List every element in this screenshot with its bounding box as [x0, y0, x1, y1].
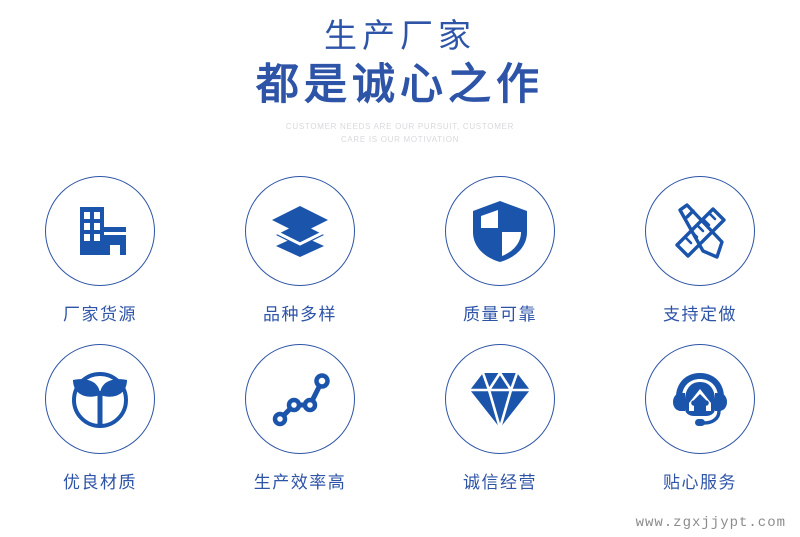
- icon-ring: [645, 176, 755, 286]
- feature-item-factory-source: 厂家货源: [0, 176, 200, 344]
- feature-label: 贴心服务: [663, 468, 737, 493]
- feature-item-variety: 品种多样: [200, 176, 400, 344]
- headset-support-icon: [667, 369, 733, 429]
- subtitle-line1: CUSTOMER NEEDS ARE OUR PURSUIT, CUSTOMER: [0, 120, 800, 133]
- feature-label: 厂家货源: [63, 300, 137, 325]
- page-title-line2: 都是诚心之作: [0, 58, 800, 112]
- icon-ring: [445, 344, 555, 454]
- feature-label: 支持定做: [663, 300, 737, 325]
- pencil-ruler-icon: [667, 198, 733, 264]
- page-title-line1: 生产厂家: [0, 16, 800, 56]
- feature-item-efficiency: 生产效率高: [200, 344, 400, 512]
- diamond-gem-icon: [467, 368, 533, 430]
- subtitle-line2: CARE IS OUR MOTIVATION: [0, 133, 800, 146]
- feature-grid: 厂家货源: [0, 176, 800, 512]
- icon-ring: [245, 344, 355, 454]
- icon-ring: [445, 176, 555, 286]
- icon-ring: [45, 176, 155, 286]
- feature-item-quality: 质量可靠: [400, 176, 600, 344]
- line-chart-nodes-icon: [268, 367, 332, 431]
- feature-label: 生产效率高: [254, 468, 347, 493]
- icon-ring: [645, 344, 755, 454]
- feature-label: 品种多样: [263, 300, 337, 325]
- stacked-layers-icon: [267, 198, 333, 264]
- feature-item-service: 贴心服务: [600, 344, 800, 512]
- shield-icon: [469, 198, 531, 264]
- feature-item-customization: 支持定做: [600, 176, 800, 344]
- subtitle: CUSTOMER NEEDS ARE OUR PURSUIT, CUSTOMER…: [0, 120, 800, 146]
- header: 生产厂家 都是诚心之作 CUSTOMER NEEDS ARE OUR PURSU…: [0, 0, 800, 146]
- feature-item-integrity: 诚信经营: [400, 344, 600, 512]
- icon-ring: [245, 176, 355, 286]
- feature-item-material: 优良材质: [0, 344, 200, 512]
- icon-ring: [45, 344, 155, 454]
- sprout-leaves-icon: [68, 367, 132, 431]
- site-watermark: www.zgxjjypt.com: [636, 515, 786, 531]
- factory-building-icon: [68, 199, 132, 263]
- promo-banner: 生产厂家 都是诚心之作 CUSTOMER NEEDS ARE OUR PURSU…: [0, 0, 800, 537]
- feature-label: 诚信经营: [463, 468, 537, 493]
- feature-label: 优良材质: [63, 468, 137, 493]
- feature-label: 质量可靠: [463, 300, 537, 325]
